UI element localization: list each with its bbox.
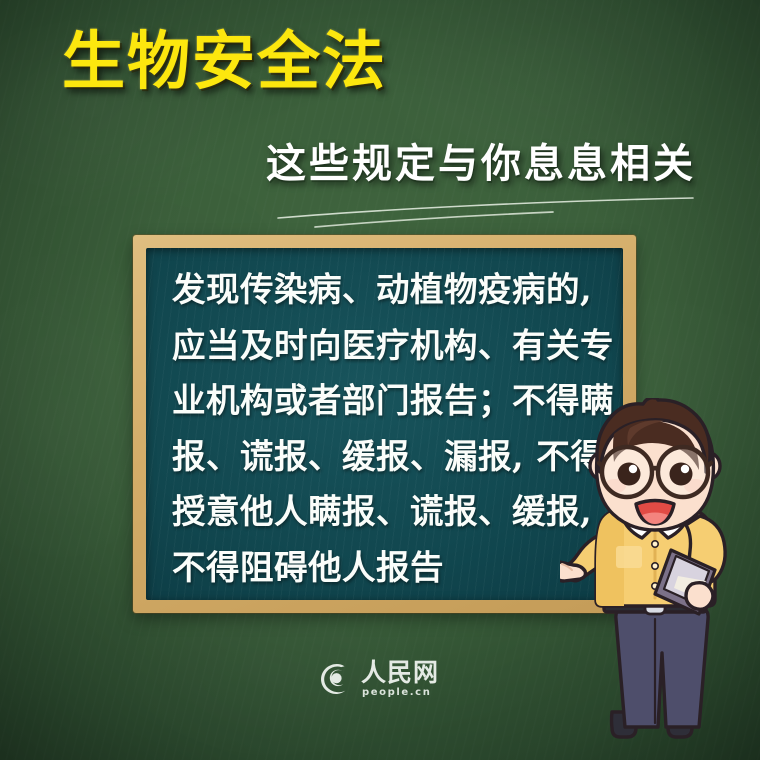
blackboard-text-block: 发现传染病、动植物疫病的, 应当及时向医疗机构、有关专 业机构或者部门报告；不得…	[172, 262, 611, 595]
page-title: 生物安全法	[62, 28, 387, 94]
logo-text-group: 人民网 people.cn	[361, 660, 439, 698]
cartoon-boy-illustration	[560, 398, 760, 760]
logo-name-cn: 人民网	[361, 660, 439, 685]
logo-name-en: people.cn	[362, 688, 439, 698]
blackboard-line: 报、谎报、缓报、漏报, 不得	[172, 429, 611, 485]
people-cn-logo: 人民网 people.cn	[318, 660, 439, 698]
blackboard-surface: 发现传染病、动植物疫病的, 应当及时向医疗机构、有关专 业机构或者部门报告；不得…	[146, 248, 623, 600]
poster-canvas: 生物安全法 这些规定与你息息相关 发现传染病、动植物疫病的, 应当及时向医疗机构…	[0, 0, 760, 760]
blackboard-line: 发现传染病、动植物疫病的,	[172, 262, 611, 318]
blackboard-line: 应当及时向医疗机构、有关专	[172, 318, 611, 374]
blackboard-line: 不得阻碍他人报告	[172, 540, 611, 596]
blackboard-line: 授意他人瞒报、谎报、缓报,	[172, 484, 611, 540]
cartoon-teacher-character	[560, 398, 760, 760]
people-globe-icon	[318, 662, 352, 696]
blackboard-line: 业机构或者部门报告；不得瞒	[172, 373, 611, 429]
page-subtitle: 这些规定与你息息相关	[266, 131, 696, 189]
